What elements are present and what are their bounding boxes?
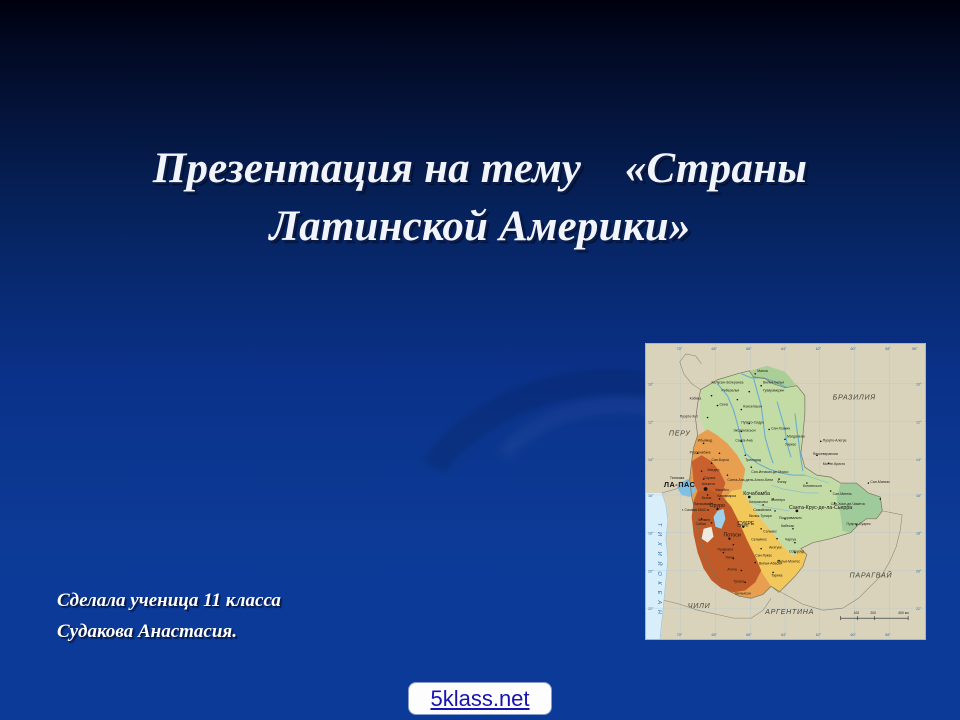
city-label-puerto-alegre: Пуэрто-Алегре xyxy=(823,438,847,442)
svg-text:64°: 64° xyxy=(781,633,787,637)
city-label-sena: Сена xyxy=(719,403,727,407)
city-label-concepcion: Консепсьон xyxy=(803,484,822,488)
svg-text:12°: 12° xyxy=(916,420,922,424)
city-label-sabaya: Сабая xyxy=(696,522,706,526)
city-label-huarques: Уаркес xyxy=(785,442,797,446)
city-label-santa-ana-alto-beni: Санта-Ана-дель-Альто-Бени xyxy=(727,478,773,482)
city-label-viacha: Вьяча xyxy=(702,496,712,500)
city-label-potosi: Потоси xyxy=(723,533,740,539)
svg-text:200: 200 xyxy=(870,611,876,615)
city-label-rurrenabaque: Рурренабаке xyxy=(690,450,711,454)
city-label-uyuni: Уюни xyxy=(725,556,734,560)
presentation-slide: Презентация на тему «Страны Латинской Ам… xyxy=(0,0,960,720)
svg-text:60°: 60° xyxy=(851,347,857,351)
city-label-selyanos: Сельяноc xyxy=(751,538,767,542)
city-label-atocha: Аточа xyxy=(727,567,736,571)
watermark-link-text[interactable]: 5klass.net xyxy=(430,686,529,712)
svg-text:58°: 58° xyxy=(885,347,891,351)
city-label-chargua: Чаргуа xyxy=(785,538,796,542)
svg-text:60°: 60° xyxy=(851,633,857,637)
title-line-2: Латинской Америки» xyxy=(60,198,900,256)
city-label-guayaramerin: Гуаярамерин xyxy=(763,389,784,393)
city-label-ibyamad: Ибьямад xyxy=(698,438,713,442)
country-label-argentina: АРГЕНТИНА xyxy=(764,608,814,616)
city-label-punasalo: Пунасало xyxy=(717,548,733,552)
city-label-san-jose-chiquitos: Сан-Хосе-де-Чикитос xyxy=(831,502,866,506)
capital-label-la-paz: ЛА-ПАС xyxy=(664,480,696,489)
city-label-postrivales: Постривальес xyxy=(779,516,802,520)
city-label-san-miguel: Сан-Мигель xyxy=(833,492,852,496)
city-label-fogau: Фогау xyxy=(777,480,787,484)
svg-text:62°: 62° xyxy=(816,633,822,637)
city-label-manoa: Манoa xyxy=(757,369,768,373)
svg-text:62°: 62° xyxy=(816,347,822,351)
city-label-san-lucas: Сан-Лукас xyxy=(755,554,772,558)
country-label-paraguay: ПАРАГВАЙ xyxy=(850,570,893,579)
city-label-villa-montes: Вилья-Монтес xyxy=(777,560,800,564)
map-graphic: ПЕРУ БРАЗИЛИЯ ПАРАГВАЙ АРГЕНТИНА ЧИЛИ Т … xyxy=(646,344,925,639)
city-label-riberalta: Рибералья xyxy=(721,389,739,393)
country-label-brazil: БРАЗИЛИЯ xyxy=(833,394,876,402)
city-label-exaltacion: Эксальтасьон xyxy=(733,428,755,432)
city-label-concepcion-n: Консепсьон xyxy=(743,405,762,409)
city-label-puerto-heath: Пуэрто-Хит xyxy=(680,415,699,419)
svg-text:64°: 64° xyxy=(781,347,787,351)
capital-marker xyxy=(704,487,708,491)
city-label-puerto-siles: Пуэрто-Сидро xyxy=(741,420,764,424)
city-label-tarija: Тариха xyxy=(771,573,782,577)
ocean-label-pacific: Т И Х И Й О К Е А Н xyxy=(656,523,664,616)
svg-text:22°: 22° xyxy=(648,607,654,611)
site-watermark-badge[interactable]: 5klass.net xyxy=(409,683,551,714)
city-label-magdalena: Магдалена xyxy=(787,434,805,438)
city-label-vilya-belyi: Вильи-Бельи xyxy=(763,381,784,385)
svg-text:20°: 20° xyxy=(648,569,654,573)
svg-text:68°: 68° xyxy=(712,347,718,351)
author-line-1: Сделала ученица 11 класса xyxy=(57,585,281,616)
city-label-sorata: Сората xyxy=(704,476,716,480)
city-label-cobija: Кобиха xyxy=(690,397,702,401)
svg-text:66°: 66° xyxy=(746,347,752,351)
svg-text:22°: 22° xyxy=(916,607,922,611)
city-label-salves: Сальвес xyxy=(763,530,777,534)
city-label-calusan: Калусан-Эсперанса xyxy=(712,381,744,385)
city-label-puerto-suarez: Пуэрто-Суарес xyxy=(847,522,871,526)
city-label-alkochi: Алькочи xyxy=(702,482,715,486)
svg-text:58°: 58° xyxy=(885,633,891,637)
lake-label-titicaca: Титикака xyxy=(670,476,685,480)
city-label-cochabamba: Кочабамба xyxy=(743,491,770,497)
city-label-trinidad: Тринидад xyxy=(745,458,761,462)
svg-text:66°: 66° xyxy=(746,633,752,637)
svg-text:20°: 20° xyxy=(916,569,922,573)
svg-text:70°: 70° xyxy=(677,633,683,637)
bolivia-map-image: ПЕРУ БРАЗИЛИЯ ПАРАГВАЙ АРГЕНТИНА ЧИЛИ Т … xyxy=(645,343,926,640)
svg-text:400 км: 400 км xyxy=(898,611,909,615)
city-label-santa-ana: Санта-Ана xyxy=(735,438,752,442)
page-title: Презентация на тему «Страны Латинской Ам… xyxy=(60,140,900,256)
city-label-villazon: Вильясон xyxy=(735,591,751,595)
city-label-san-matias: Сан-Матиас xyxy=(870,480,890,484)
svg-text:14°: 14° xyxy=(916,458,922,462)
svg-text:10°: 10° xyxy=(916,383,922,387)
svg-text:10°: 10° xyxy=(648,383,654,387)
city-label-tupiza: Туписа xyxy=(733,579,744,583)
svg-text:68°: 68° xyxy=(712,633,718,637)
city-label-anetuke: Анэтуке xyxy=(769,546,782,550)
city-label-san-borja: Сан-Борха xyxy=(712,458,729,462)
city-label-soykurud: Сойкуруд xyxy=(789,550,804,554)
svg-text:18°: 18° xyxy=(648,532,654,536)
svg-text:70°: 70° xyxy=(677,347,683,351)
city-label-san-ignacio: Сан-Игнасио-де-Моксо xyxy=(751,470,788,474)
city-label-sucre-small: СУКРЕ xyxy=(737,524,749,528)
city-label-samaipata: Самайпата xyxy=(753,508,771,512)
city-label-san-joaquin: Сан-Хоакин xyxy=(771,426,790,430)
country-label-peru: ПЕРУ xyxy=(669,429,691,437)
peak-label-sajama: г. Сахама 6542 м xyxy=(682,508,710,512)
svg-text:56°: 56° xyxy=(912,347,918,351)
author-credit: Сделала ученица 11 класса Судакова Анаст… xyxy=(57,585,281,647)
svg-text:12°: 12° xyxy=(648,420,654,424)
svg-text:18°: 18° xyxy=(916,532,922,536)
svg-text:16°: 16° xyxy=(648,494,654,498)
svg-text:100: 100 xyxy=(854,611,860,615)
city-label-kasabel: Касабел xyxy=(716,488,729,492)
city-label-quillacollo: Кильякольо xyxy=(749,500,768,504)
city-label-patakamaya: Патакамайя xyxy=(694,502,714,506)
city-label-monte-cristo: Монте-Кристо xyxy=(823,462,846,466)
city-label-montero: Монтеро xyxy=(771,498,785,502)
city-label-cabezas: Кабесас xyxy=(781,524,794,528)
svg-text:14°: 14° xyxy=(648,458,654,462)
author-line-2: Судакова Анастасия. xyxy=(57,616,281,647)
city-label-villa-tunari: Вилья-Тунари xyxy=(749,514,772,518)
country-label-chile: ЧИЛИ xyxy=(688,602,711,610)
city-label-kataviarka: Катавиарка xyxy=(717,494,736,498)
city-label-perseverancia: Персеверансия xyxy=(813,452,838,456)
city-label-magder: Магдер xyxy=(708,468,720,472)
title-line-1: Презентация на тему «Страны xyxy=(60,140,900,198)
svg-text:16°: 16° xyxy=(916,494,922,498)
